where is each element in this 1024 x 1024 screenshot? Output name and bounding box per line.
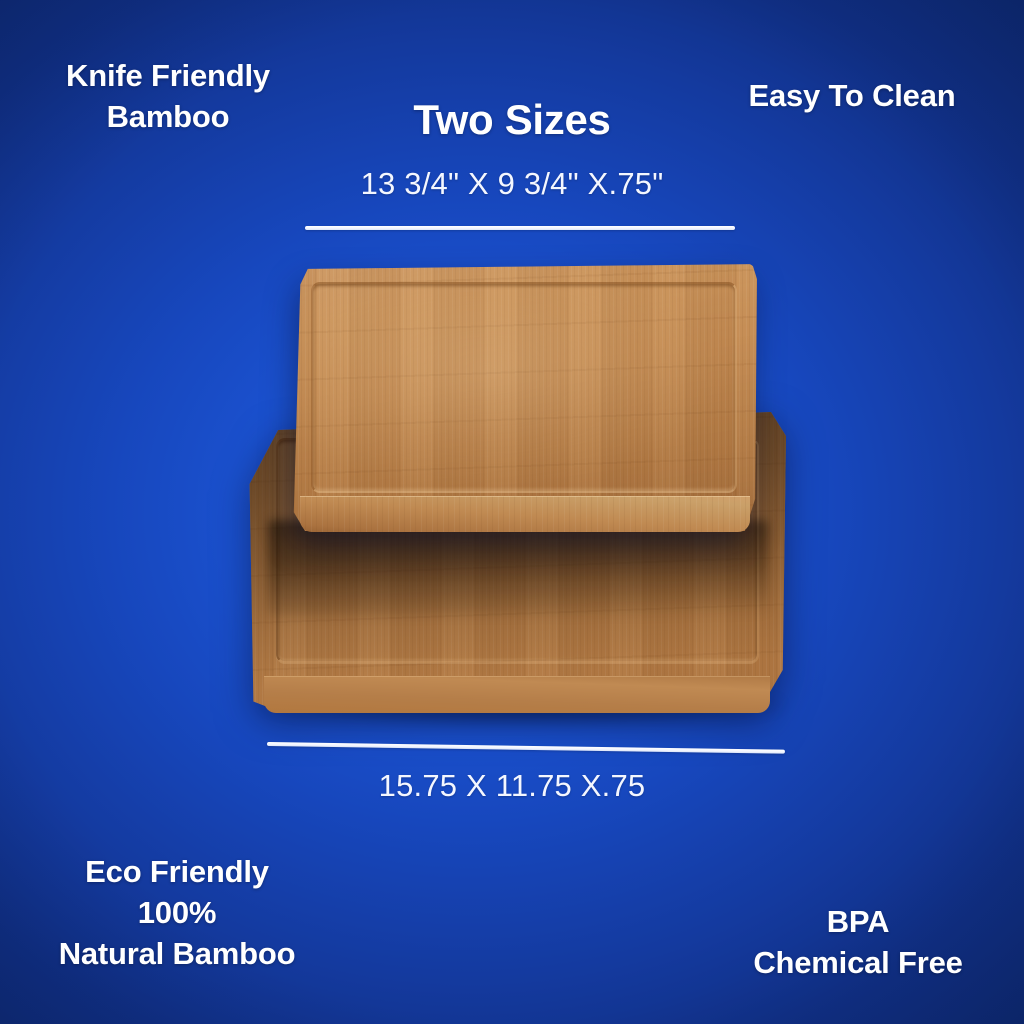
- feature-callout-knife-friendly: Knife Friendly Bamboo: [18, 56, 318, 138]
- small-board-dimension-label: 13 3/4" X 9 3/4" X.75": [0, 166, 1024, 202]
- small-board-front-edge: [300, 496, 749, 532]
- small-bamboo-cutting-board: [291, 263, 757, 531]
- product-marketing-image: Two Sizes 13 3/4" X 9 3/4" X.75" 15.75 X…: [0, 0, 1024, 1024]
- large-board-dimension-label: 15.75 X 11.75 X.75: [0, 768, 1024, 804]
- small-board-dimension-rule: [305, 226, 735, 230]
- upper-board-cast-shadow: [268, 520, 768, 616]
- feature-callout-eco-friendly: Eco Friendly 100% Natural Bamboo: [12, 852, 342, 975]
- feature-callout-easy-to-clean: Easy To Clean: [702, 76, 1002, 117]
- feature-callout-bpa-free: BPA Chemical Free: [708, 902, 1008, 984]
- large-board-front-edge: [264, 676, 770, 714]
- small-board-juice-groove: [311, 282, 738, 494]
